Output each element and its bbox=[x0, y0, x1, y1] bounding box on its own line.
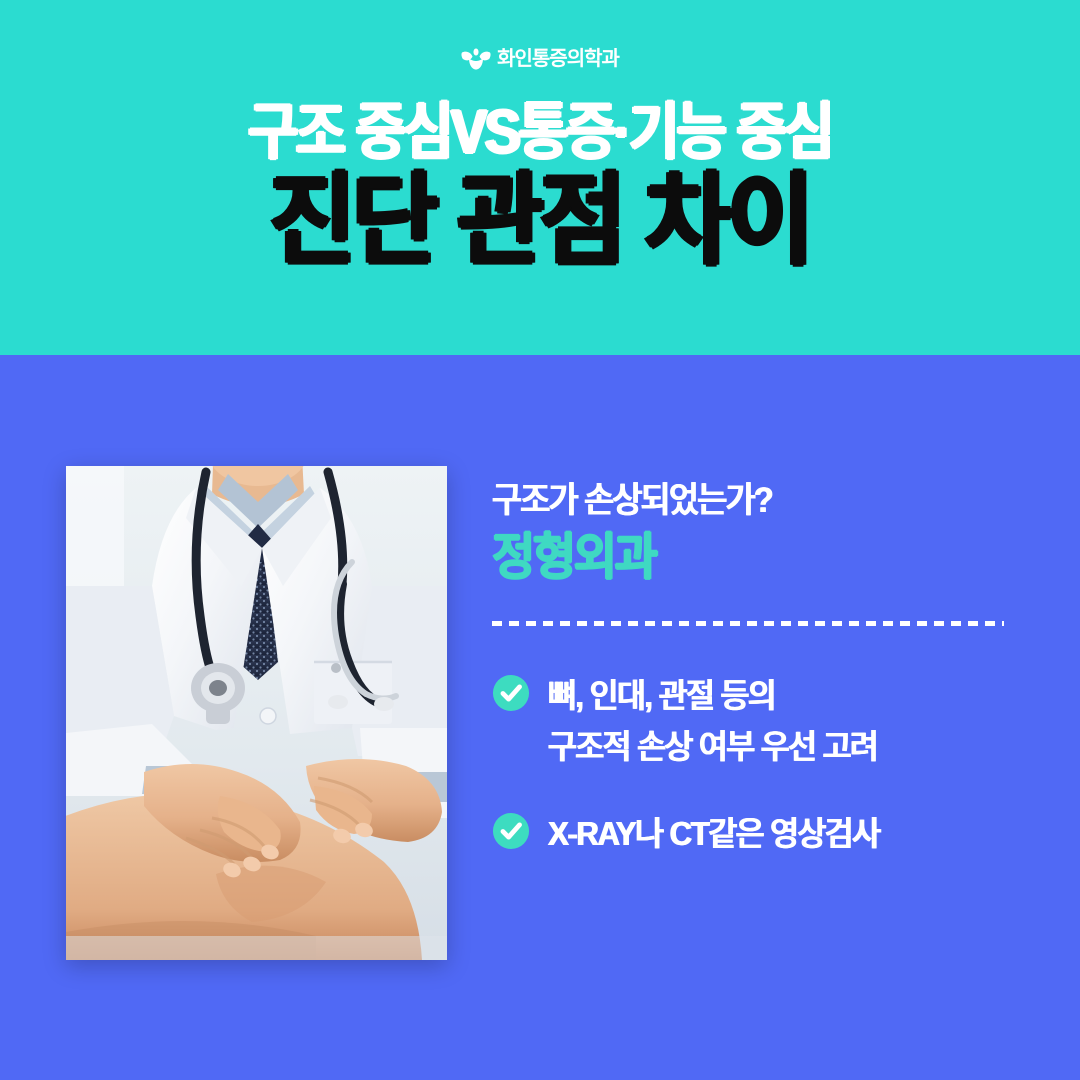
question-text: 구조가 손상되었는가? bbox=[492, 482, 985, 521]
bullet-list: 뼈, 인대, 관절 등의 구조적 손상 여부 우선 고려 X-RAY나 CT같은… bbox=[492, 670, 1022, 859]
dashed-divider bbox=[492, 621, 1004, 626]
doctor-photo bbox=[66, 466, 447, 960]
check-circle-icon bbox=[492, 812, 530, 850]
header-band: 화인통증의학과 구조 중심VS통증·기능 중심 진단 관점 차이 bbox=[0, 0, 1080, 355]
list-item-line-1: X-RAY나 CT같은 영상검사 bbox=[548, 815, 879, 852]
title-line-2: 진단 관점 차이 bbox=[32, 169, 1047, 274]
list-item: X-RAY나 CT같은 영상검사 bbox=[492, 808, 1022, 859]
page-title: 구조 중심VS통증·기능 중심 진단 관점 차이 bbox=[0, 104, 1080, 274]
brand-logo-text: 화인통증의학과 bbox=[497, 49, 619, 69]
title-line-1: 구조 중심VS통증·기능 중심 bbox=[65, 104, 1015, 163]
list-item-text: 뼈, 인대, 관절 등의 구조적 손상 여부 우선 고려 bbox=[548, 670, 877, 772]
doctor-photo-illustration bbox=[66, 466, 447, 960]
list-item-text: X-RAY나 CT같은 영상검사 bbox=[548, 808, 879, 859]
list-item: 뼈, 인대, 관절 등의 구조적 손상 여부 우선 고려 bbox=[492, 670, 1022, 772]
list-item-line-2: 구조적 손상 여부 우선 고려 bbox=[548, 721, 877, 772]
list-item-line-1: 뼈, 인대, 관절 등의 bbox=[548, 677, 775, 714]
content-panel: 구조가 손상되었는가? 정형외과 뼈, 인대, 관절 등의 구조적 손상 여부 … bbox=[492, 482, 1022, 895]
specialty-title: 정형외과 bbox=[492, 529, 990, 585]
brand-logo: 화인통증의학과 bbox=[0, 47, 1080, 71]
leaf-wings-icon bbox=[461, 47, 491, 71]
check-circle-icon bbox=[492, 674, 530, 712]
